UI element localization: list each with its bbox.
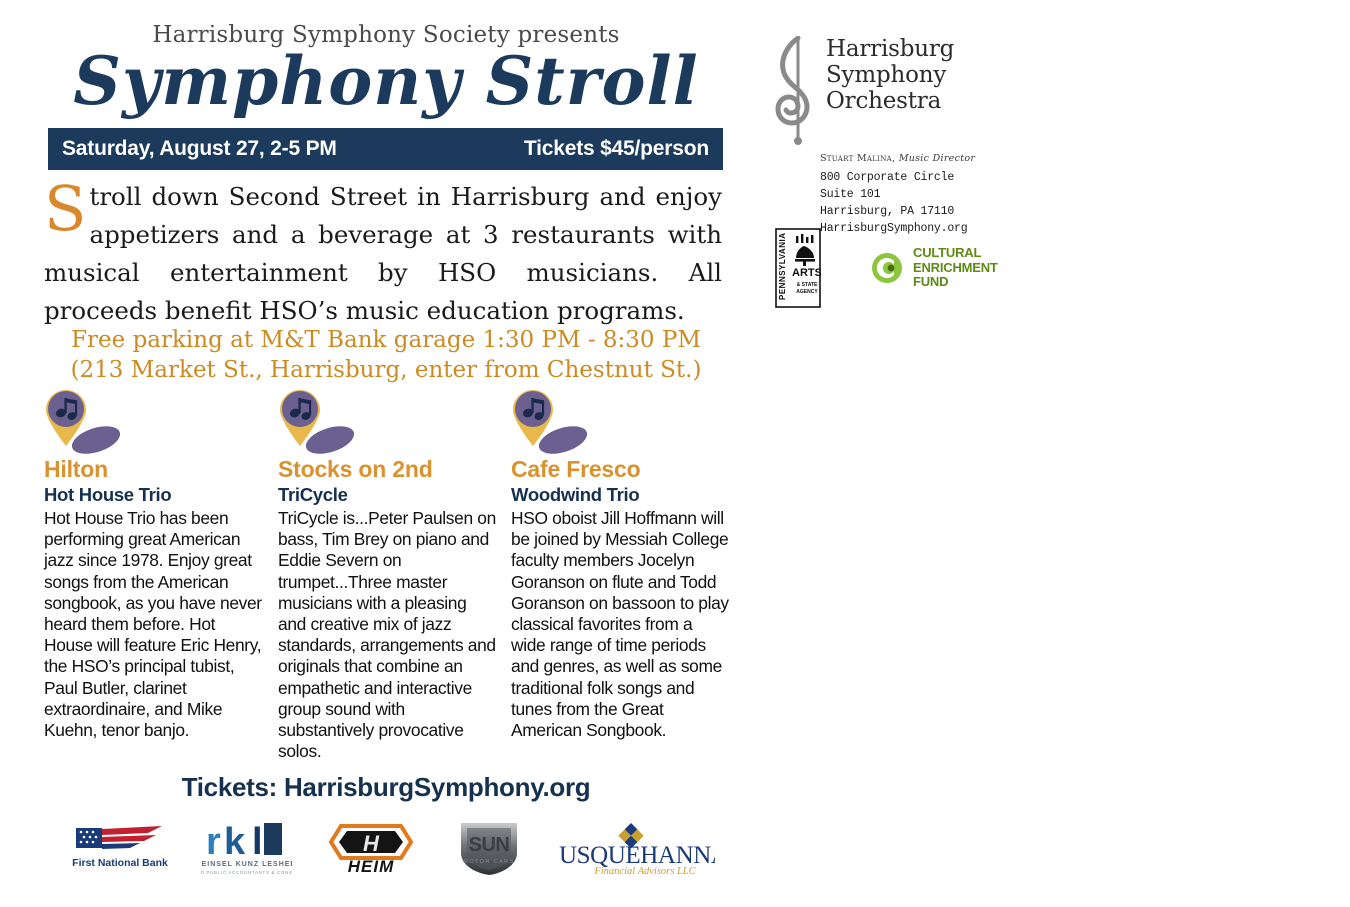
venue-column: Stocks on 2nd TriCycle TriCycle is...Pet… [277,388,510,762]
svg-text:PENNSYLVANIA: PENNSYLVANIA [778,233,787,301]
cef-line-2: ENRICHMENT [913,261,998,276]
cef-icon [861,245,907,291]
tickets-url-line: Tickets: HarrisburgSymphony.org [48,772,724,803]
music-director-role: Music Director [899,153,976,164]
sponsor-strip: First National Bank r k l REINSEL KUNZ L… [70,816,715,886]
music-director-name: Stuart Malina, [820,153,895,164]
pca-icon: PENNSYLVANIA ARTS & STATE AGENCY [775,228,821,308]
venue-name: Hilton [44,456,263,483]
hso-address-suite: Suite 101 [820,186,1002,203]
intro-dropcap: S [44,180,89,236]
parking-note: Free parking at M&T Bank garage 1:30 PM … [48,325,724,385]
map-pin-icon [44,388,130,454]
hso-address-city: Harrisburg, PA 17110 [820,203,1002,220]
venue-description: Hot House Trio has been performing great… [44,508,263,741]
heim-icon: H HEIM [323,820,419,878]
sponsor-heim: H HEIM [323,820,419,883]
flyer-canvas: Harrisburg Symphony Society presents Sym… [0,0,1350,907]
svg-text:HEIM: HEIM [347,857,394,876]
svg-text:REINSEL KUNZ LESHER: REINSEL KUNZ LESHER [200,861,292,868]
svg-text:& STATE: & STATE [797,282,818,288]
music-director-credit: Stuart Malina, Music Director [820,153,1002,164]
svg-text:SUN: SUN [468,834,509,856]
hso-address-street: 800 Corporate Circle [820,169,1002,186]
venue-description: TriCycle is...Peter Paulsen on bass, Tim… [278,508,496,762]
hso-address-block: 800 Corporate Circle Suite 101 Harrisbur… [820,169,1002,237]
hso-word-line-3: Orchestra [826,88,954,114]
venue-name: Cafe Fresco [511,456,729,483]
map-pin-icon [511,388,597,454]
ensemble-name: Hot House Trio [44,484,263,506]
sun-icon: SUN MOTOR CARS [449,819,529,879]
page-title: Symphony Stroll [48,46,724,116]
first-national-bank-icon: First National Bank [70,822,170,876]
treble-clef-icon [772,36,818,148]
event-info-bar: Saturday, August 27, 2-5 PM Tickets $45/… [48,128,723,170]
venue-description: HSO oboist Jill Hoffmann will be joined … [511,508,729,741]
hso-word-line-2: Symphony [826,62,954,88]
venue-name: Stocks on 2nd [278,456,496,483]
sponsor-susquehanna: SUSQUEHANNA Financial Advisors LLC [559,819,715,884]
sponsor-first-national-bank: First National Bank [70,822,170,881]
hso-logo-row: Harrisburg Symphony Orchestra [772,36,1002,148]
rkl-icon: r k l REINSEL KUNZ LESHER CERTIFIED PUBL… [200,818,292,880]
cef-wordmark: CULTURAL ENRICHMENT FUND [913,246,998,290]
venue-columns: Hilton Hot House Trio Hot House Trio has… [44,388,744,762]
svg-text:First National Bank: First National Bank [72,857,168,869]
svg-text:MOTOR CARS: MOTOR CARS [463,859,514,865]
intro-paragraph: Stroll down Second Street in Harrisburg … [44,178,722,330]
hso-wordmark: Harrisburg Symphony Orchestra [826,36,954,114]
cef-line-3: FUND [913,275,998,290]
event-datetime: Saturday, August 27, 2-5 PM [62,137,337,161]
svg-text:Financial Advisors LLC: Financial Advisors LLC [593,866,696,877]
ensemble-name: Woodwind Trio [511,484,729,506]
svg-text:H: H [363,831,380,856]
map-pin-icon [278,388,364,454]
event-price: Tickets $45/person [524,137,709,161]
venue-column: Cafe Fresco Woodwind Trio HSO oboist Jil… [510,388,743,762]
venue-column: Hilton Hot House Trio Hot House Trio has… [44,388,277,762]
svg-text:AGENCY: AGENCY [796,289,818,295]
svg-text:SUSQUEHANNA: SUSQUEHANNA [559,842,715,869]
svg-text:k: k [224,821,246,863]
sponsor-rkl: r k l REINSEL KUNZ LESHER CERTIFIED PUBL… [200,818,292,885]
cultural-enrichment-fund-logo: CULTURAL ENRICHMENT FUND [861,245,998,291]
svg-text:CERTIFIED PUBLIC ACCOUNTANTS &: CERTIFIED PUBLIC ACCOUNTANTS & CONSULTAN… [200,870,292,875]
susquehanna-icon: SUSQUEHANNA Financial Advisors LLC [559,819,715,879]
intro-body: troll down Second Street in Harrisburg a… [44,182,722,325]
svg-text:l: l [252,821,263,863]
hso-logo-block: Harrisburg Symphony Orchestra Stuart Mal… [772,36,1002,237]
hso-word-line-1: Harrisburg [826,36,954,62]
cef-line-1: CULTURAL [913,246,998,261]
parking-line-1: Free parking at M&T Bank garage 1:30 PM … [48,325,724,355]
svg-text:ARTS: ARTS [792,267,821,279]
parking-line-2: (213 Market St., Harrisburg, enter from … [48,355,724,385]
pennsylvania-council-on-the-arts-logo: PENNSYLVANIA ARTS & STATE AGENCY [775,228,821,308]
funder-logo-row: PENNSYLVANIA ARTS & STATE AGENCY [775,228,998,308]
ensemble-name: TriCycle [278,484,496,506]
svg-text:r: r [206,821,221,863]
sponsor-sun: SUN MOTOR CARS [449,819,529,884]
